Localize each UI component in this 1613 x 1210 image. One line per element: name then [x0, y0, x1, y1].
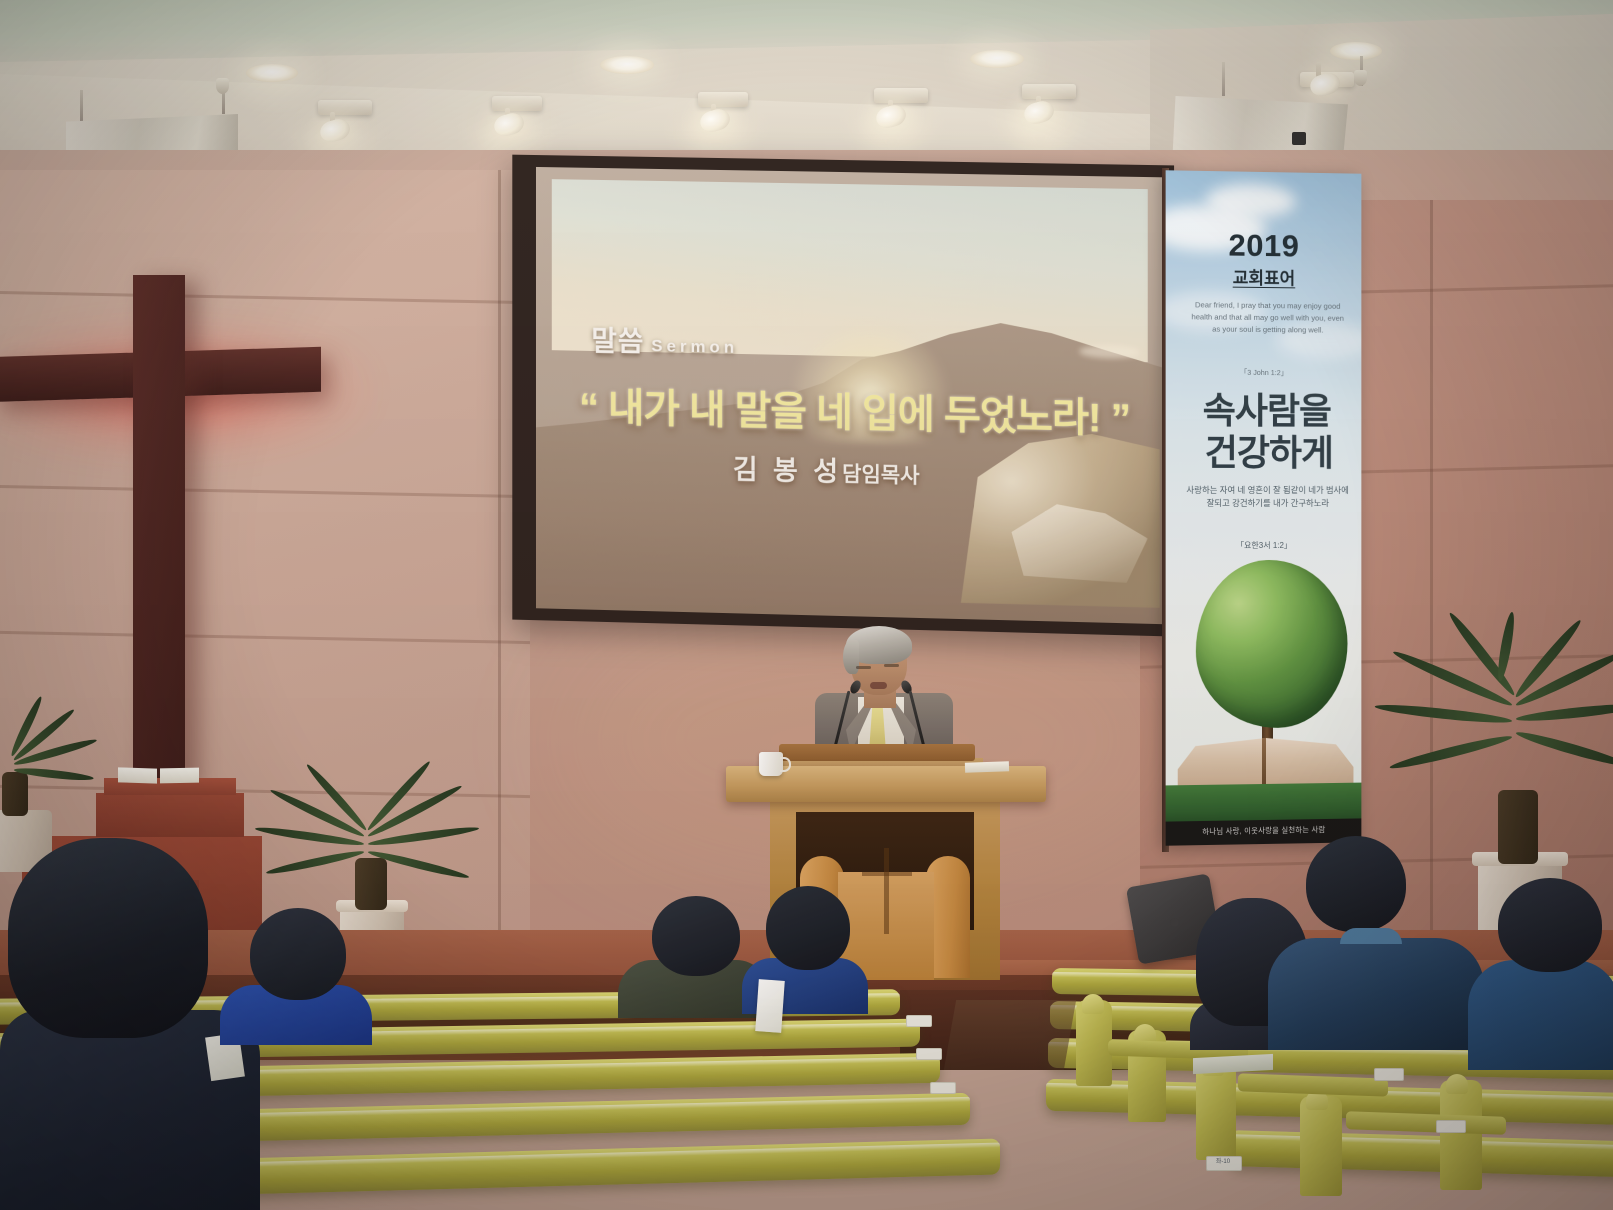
banner-motto-line1: 속사람을 [1176, 389, 1358, 432]
spot-track-2 [492, 96, 542, 111]
altar-pedestal [96, 793, 244, 837]
speaker-hanger-left-a [80, 90, 83, 124]
palm-trunk-far-left [2, 772, 28, 816]
downlight-4 [1330, 42, 1382, 60]
banner-english-reference: 「3 John 1:2」 [1166, 367, 1362, 378]
pulpit-cross-horizontal [862, 872, 912, 876]
attendee-right-navy-body [1268, 938, 1484, 1050]
attendee-right-navy-collar [1340, 928, 1402, 944]
pew-end-r5[interactable] [1440, 1080, 1482, 1190]
preacher-mouth [870, 682, 887, 689]
speaker-hanger-right-a [1222, 62, 1225, 96]
slide-section-label: 말씀 Sermon [591, 319, 738, 362]
speaker-cap-right [1354, 70, 1367, 86]
spot-track-4 [874, 88, 928, 103]
pew-row-5-right[interactable] [1230, 1130, 1613, 1178]
pulpit-upper-shelf [779, 744, 975, 761]
banner-year: 2019 [1166, 227, 1362, 266]
attendee-right-navy-head [1306, 836, 1406, 932]
spot-track-5 [1022, 84, 1076, 99]
jbl-badge-right [1292, 132, 1306, 145]
pew-end-r3[interactable] [1196, 1062, 1236, 1160]
banner-english-verse: Dear friend, I pray that you may enjoy g… [1188, 299, 1348, 336]
pew-highlight [1230, 1134, 1613, 1151]
attendee-left-blue-head [250, 908, 346, 1000]
wall-vert-seam-1 [498, 170, 501, 930]
spot-track-3 [698, 92, 748, 107]
attendee-center-hymnal [755, 979, 785, 1033]
pew-tag-2 [1374, 1068, 1404, 1081]
attendee-center-left-head [652, 896, 740, 976]
slide-speaker-role: 담임목사 [842, 463, 919, 488]
back-wall-left-panel [0, 170, 530, 930]
slide-speaker-name: 김 봉 성 [733, 455, 842, 487]
pew-tag-6 [930, 1082, 956, 1094]
slide-section-label-en: Sermon [651, 336, 738, 358]
open-bible [118, 768, 200, 784]
pew-knob-r1 [1082, 994, 1104, 1014]
cross-vertical-beam [133, 275, 185, 785]
attendee-center-blue-head [766, 886, 850, 970]
projection-screen-frame: 말씀 Sermon “ 내가 내 말을 네 입에 두었노라! ” 김 봉 성담임… [512, 155, 1174, 637]
sanctuary-scene: 말씀 Sermon “ 내가 내 말을 네 입에 두었노라! ” 김 봉 성담임… [0, 0, 1613, 1210]
attendee-far-right-body [1468, 960, 1613, 1070]
pew-knob-r5 [1446, 1074, 1468, 1094]
banner-subtitle: 교회표어 [1166, 263, 1362, 290]
preacher-brow-left [856, 666, 871, 669]
palm-trunk-center-left [355, 858, 387, 910]
downlight-3 [970, 50, 1024, 68]
preacher-brow-right [884, 664, 899, 667]
pew-tag-3 [1436, 1120, 1466, 1133]
center-aisle [944, 1000, 1076, 1070]
banner-motto-line2: 건강하게 [1176, 432, 1362, 475]
tablet-camera-dot [1170, 918, 1179, 927]
bible-page-right [160, 768, 199, 784]
pulpit-cross-vertical [884, 848, 889, 934]
pew-tag-4 [906, 1015, 932, 1027]
downlight-1 [246, 64, 298, 82]
paper-sheet [965, 761, 1009, 773]
speaker-cap-left [216, 78, 229, 94]
banner-korean-verse: 사랑하는 자여 네 영혼이 잘 됨같이 네가 범사에 잘되고 강건하기를 내가 … [1184, 484, 1352, 511]
slide-section-label-kr: 말씀 [591, 319, 644, 360]
church-motto-banner: 2019 교회표어 Dear friend, I pray that you m… [1166, 170, 1362, 845]
downlight-2 [600, 56, 654, 74]
attendee-front-left-hair [8, 838, 208, 1038]
banner-tree-canopy [1196, 560, 1348, 729]
banner-book-spine [1262, 738, 1266, 790]
pew-tag-1-label: 좌-10 [1206, 1156, 1240, 1169]
attendee-far-right-head [1498, 878, 1602, 972]
wall-vert-seam-2 [1430, 200, 1433, 940]
spot-track-left [318, 100, 372, 115]
banner-korean-reference: 「요한3서 1:2」 [1166, 540, 1362, 551]
pew-tag-5 [916, 1048, 942, 1060]
projection-screen: 말씀 Sermon “ 내가 내 말을 네 입에 두었노라! ” 김 봉 성담임… [536, 167, 1166, 624]
palm-trunk-right [1498, 790, 1538, 864]
bible-page-left [118, 767, 157, 783]
pew-end-r4[interactable] [1300, 1096, 1342, 1196]
